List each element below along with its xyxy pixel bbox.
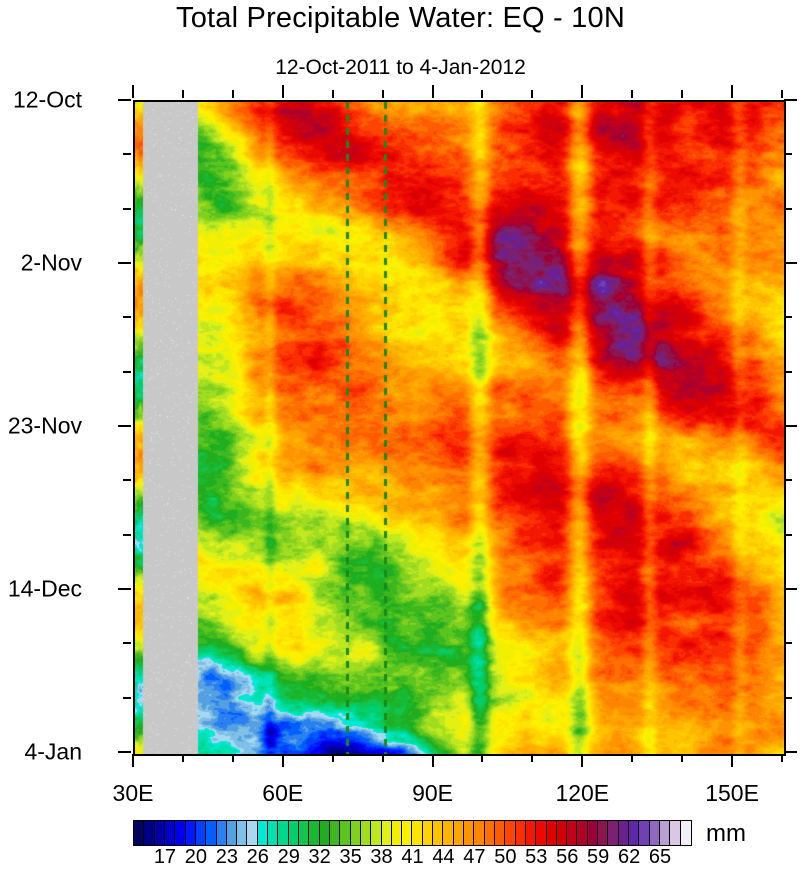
y-tick-minor — [123, 697, 131, 699]
colorbar-swatch — [196, 821, 206, 845]
colorbar-swatch — [268, 821, 278, 845]
colorbar-tick-label: 59 — [587, 846, 609, 869]
colorbar-tick-label: 23 — [216, 846, 238, 869]
x-axis-tick-label: 150E — [705, 780, 759, 807]
y-tick-minor — [784, 153, 792, 155]
x-tick-minor — [332, 754, 334, 762]
colorbar-swatch — [392, 821, 402, 845]
x-tick-minor — [182, 754, 184, 762]
colorbar-swatch — [536, 821, 546, 845]
y-tick-minor — [123, 208, 131, 210]
x-axis-tick-label: 120E — [555, 780, 609, 807]
y-tick-minor — [784, 208, 792, 210]
x-tick-major — [581, 85, 583, 98]
colorbar-swatch — [598, 821, 608, 845]
y-tick-major — [784, 262, 797, 264]
colorbar-swatch — [670, 821, 680, 845]
colorbar-swatch — [619, 821, 629, 845]
x-tick-minor — [332, 90, 334, 98]
x-tick-minor — [531, 90, 533, 98]
colorbar-tick-label: 17 — [154, 846, 176, 869]
x-axis-tick-label: 60E — [262, 780, 303, 807]
x-tick-minor — [481, 754, 483, 762]
colorbar-swatches — [133, 820, 692, 846]
x-tick-major — [731, 754, 733, 767]
y-tick-minor — [784, 642, 792, 644]
x-tick-minor — [531, 754, 533, 762]
colorbar-swatch — [371, 821, 381, 845]
y-tick-major — [118, 425, 131, 427]
y-tick-minor — [123, 479, 131, 481]
colorbar-swatch — [577, 821, 587, 845]
y-tick-major — [118, 588, 131, 590]
colorbar-swatch — [474, 821, 484, 845]
colorbar-swatch — [330, 821, 340, 845]
y-tick-major — [784, 99, 797, 101]
colorbar-tick-label: 50 — [494, 846, 516, 869]
y-tick-minor — [784, 534, 792, 536]
x-axis-tick-label: 30E — [113, 780, 154, 807]
colorbar-swatch — [495, 821, 505, 845]
colorbar-swatch — [351, 821, 361, 845]
colorbar-swatch — [547, 821, 557, 845]
x-tick-major — [432, 754, 434, 767]
colorbar-swatch — [155, 821, 165, 845]
colorbar-swatch — [258, 821, 268, 845]
x-tick-minor — [382, 754, 384, 762]
colorbar-swatch — [247, 821, 257, 845]
colorbar-swatch — [175, 821, 185, 845]
x-tick-minor — [382, 90, 384, 98]
colorbar-swatch — [134, 821, 144, 845]
colorbar-swatch — [485, 821, 495, 845]
colorbar-tick-label: 29 — [278, 846, 300, 869]
colorbar-swatch — [505, 821, 515, 845]
colorbar-swatch — [433, 821, 443, 845]
colorbar-swatch — [278, 821, 288, 845]
colorbar-swatch — [454, 821, 464, 845]
colorbar-swatch — [526, 821, 536, 845]
x-tick-minor — [681, 754, 683, 762]
colorbar-tick-label: 20 — [185, 846, 207, 869]
colorbar-swatch — [217, 821, 227, 845]
colorbar-swatch — [567, 821, 577, 845]
colorbar-swatch — [650, 821, 660, 845]
colorbar-swatch — [464, 821, 474, 845]
colorbar-tick-label: 32 — [309, 846, 331, 869]
x-axis-tick-label: 90E — [412, 780, 453, 807]
colorbar-swatch — [423, 821, 433, 845]
y-axis-tick-label: 4-Jan — [24, 739, 82, 766]
colorbar-tick-label: 47 — [463, 846, 485, 869]
x-tick-minor — [681, 90, 683, 98]
y-tick-minor — [784, 371, 792, 373]
colorbar-swatch — [608, 821, 618, 845]
colorbar-swatch — [361, 821, 371, 845]
colorbar-swatch — [340, 821, 350, 845]
colorbar-tick-label: 62 — [618, 846, 640, 869]
colorbar-swatch — [412, 821, 422, 845]
colorbar-swatch — [227, 821, 237, 845]
x-tick-major — [132, 754, 134, 767]
x-tick-major — [282, 754, 284, 767]
x-tick-minor — [481, 90, 483, 98]
colorbar-tick-label: 53 — [525, 846, 547, 869]
y-tick-major — [118, 99, 131, 101]
y-tick-minor — [123, 316, 131, 318]
colorbar-units-label: mm — [706, 820, 746, 848]
colorbar-swatch — [382, 821, 392, 845]
x-tick-minor — [781, 754, 783, 762]
y-tick-minor — [123, 153, 131, 155]
y-tick-minor — [784, 316, 792, 318]
y-tick-minor — [123, 534, 131, 536]
colorbar-swatch — [144, 821, 154, 845]
chart-title: Total Precipitable Water: EQ - 10N — [0, 2, 801, 35]
x-tick-major — [132, 85, 134, 98]
y-tick-major — [784, 751, 797, 753]
colorbar-swatch — [557, 821, 567, 845]
colorbar-swatch — [629, 821, 639, 845]
colorbar-swatch — [186, 821, 196, 845]
y-tick-minor — [784, 479, 792, 481]
x-tick-minor — [232, 754, 234, 762]
y-axis-tick-label: 23-Nov — [8, 413, 82, 440]
hovmoller-plot-area — [133, 100, 786, 756]
chart-subtitle: 12-Oct-2011 to 4-Jan-2012 — [0, 56, 801, 80]
y-tick-major — [784, 588, 797, 590]
colorbar-swatch — [289, 821, 299, 845]
y-axis-tick-label: 14-Dec — [8, 576, 82, 603]
colorbar-tick-label: 26 — [247, 846, 269, 869]
colorbar-tick-label: 35 — [339, 846, 361, 869]
colorbar-tick-label: 44 — [432, 846, 454, 869]
colorbar-swatch — [320, 821, 330, 845]
colorbar-tick-label: 38 — [370, 846, 392, 869]
colorbar-swatch — [299, 821, 309, 845]
x-tick-major — [731, 85, 733, 98]
x-tick-minor — [631, 90, 633, 98]
colorbar-swatch — [516, 821, 526, 845]
y-axis-tick-label: 2-Nov — [21, 250, 82, 277]
x-tick-major — [282, 85, 284, 98]
colorbar-swatch — [402, 821, 412, 845]
colorbar-tick-label: 65 — [649, 846, 671, 869]
colorbar-swatch — [660, 821, 670, 845]
y-tick-minor — [784, 697, 792, 699]
colorbar-tick-label: 56 — [556, 846, 578, 869]
colorbar-tick-label: 41 — [401, 846, 423, 869]
y-tick-minor — [123, 642, 131, 644]
y-axis-tick-label: 12-Oct — [13, 87, 82, 114]
colorbar-swatch — [588, 821, 598, 845]
x-tick-minor — [232, 90, 234, 98]
colorbar-swatch — [681, 821, 691, 845]
x-tick-major — [581, 754, 583, 767]
colorbar-swatch — [639, 821, 649, 845]
y-tick-major — [118, 262, 131, 264]
y-tick-minor — [123, 371, 131, 373]
colorbar-swatch — [237, 821, 247, 845]
heatmap-canvas — [135, 102, 784, 754]
x-tick-minor — [631, 754, 633, 762]
colorbar-swatch — [206, 821, 216, 845]
colorbar-swatch — [443, 821, 453, 845]
y-tick-major — [784, 425, 797, 427]
y-tick-major — [118, 751, 131, 753]
x-tick-minor — [182, 90, 184, 98]
colorbar-swatch — [309, 821, 319, 845]
x-tick-minor — [781, 90, 783, 98]
colorbar-swatch — [165, 821, 175, 845]
x-tick-major — [432, 85, 434, 98]
